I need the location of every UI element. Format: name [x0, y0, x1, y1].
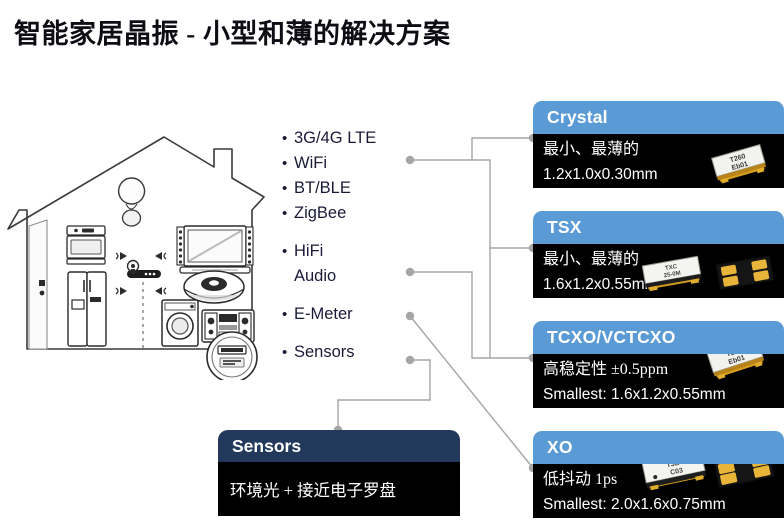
robot-vacuum-icon [184, 271, 244, 303]
page-title: 智能家居晶振 - 小型和薄的解决方案 [14, 12, 451, 51]
bullet-marker: • [282, 302, 294, 327]
panel-header: Crystal [533, 101, 784, 134]
list-item: • Sensors [282, 340, 412, 365]
smart-home-illustration [2, 132, 270, 380]
xo-package-top-image: T3B4 C03 [636, 464, 712, 492]
laptop-icon [177, 226, 253, 273]
oven-icon [67, 226, 105, 264]
sensors-panel-body: 环境光 + 接近电子罗盘 [218, 462, 460, 516]
list-item-label: HiFi Audio [294, 239, 336, 289]
bullet-marker: • [282, 340, 294, 365]
tcxo-package-image: T260 Eb01 [696, 354, 776, 384]
connector-audio-to-tsx [410, 272, 533, 358]
sensors-panel[interactable]: Sensors 环境光 + 接近电子罗盘 [218, 430, 460, 516]
bullet-marker: • [282, 201, 294, 226]
list-item-label: 3G/4G LTE [294, 126, 376, 151]
tsx-package-top-image: TXC 25-0M [636, 252, 708, 294]
xo-package-bottom-image [710, 464, 780, 492]
list-spacer [282, 226, 412, 239]
feature-bullet-list: • 3G/4G LTE • WiFi • BT/BLE • ZigBee • H… [282, 126, 412, 365]
list-item-label: BT/BLE [294, 176, 351, 201]
washing-machine-icon [162, 300, 198, 346]
connector-wifi-to-tsx [472, 160, 533, 248]
panel-header: XO [533, 431, 784, 464]
refrigerator-icon [68, 272, 106, 346]
panel-line2: Smallest: 1.6x1.2x0.55mm [543, 382, 784, 407]
list-item: • BT/BLE [282, 176, 412, 201]
list-item-label: E-Meter [294, 302, 353, 327]
electric-meter-icon [207, 332, 257, 380]
product-panel-tcxo[interactable]: TCXO/VCTCXO 高稳定性 ±0.5ppm Smallest: 1.6x1… [533, 321, 784, 408]
panel-line2: Smallest: 2.0x1.6x0.75mm [543, 492, 784, 517]
list-item-label: ZigBee [294, 201, 346, 226]
list-item: • HiFi Audio [282, 239, 412, 289]
list-item: • WiFi [282, 151, 412, 176]
list-item-label: WiFi [294, 151, 327, 176]
connector-sensors-to-box [338, 360, 430, 430]
list-item: • E-Meter [282, 302, 412, 327]
bullet-marker: • [282, 239, 294, 264]
connector-wifi-to-crystal [410, 138, 533, 160]
bullet-marker: • [282, 151, 294, 176]
door-icon [29, 220, 47, 349]
bullet-marker: • [282, 126, 294, 151]
product-panel-crystal[interactable]: Crystal 最小、最薄的 1.2x1.0x0.30mm T260 Eb01 [533, 101, 784, 188]
list-item-label: Sensors [294, 340, 355, 365]
crystal-package-image: T260 Eb01 [700, 139, 778, 187]
panel-header: TCXO/VCTCXO [533, 321, 784, 354]
product-panel-xo[interactable]: XO 低抖动 1ps Smallest: 2.0x1.6x0.75mm T3B4… [533, 431, 784, 518]
list-spacer [282, 289, 412, 302]
list-spacer [282, 327, 412, 340]
slide-canvas: 智能家居晶振 - 小型和薄的解决方案 [0, 0, 784, 524]
product-panel-tsx[interactable]: TSX 最小、最薄的 1.6x1.2x0.55mm TXC 25-0M [533, 211, 784, 298]
list-item: • ZigBee [282, 201, 412, 226]
tsx-package-bottom-image [712, 252, 778, 294]
bullet-marker: • [282, 176, 294, 201]
panel-body: 低抖动 1ps Smallest: 2.0x1.6x0.75mm T3B4 C0… [533, 464, 784, 518]
panel-body: 最小、最薄的 1.6x1.2x0.55mm TXC 25-0M [533, 244, 784, 298]
list-item: • 3G/4G LTE [282, 126, 412, 151]
panel-body: 最小、最薄的 1.2x1.0x0.30mm T260 Eb01 [533, 134, 784, 188]
panel-body: 高稳定性 ±0.5ppm Smallest: 1.6x1.2x0.55mm T2… [533, 354, 784, 408]
sensors-panel-header: Sensors [218, 430, 460, 462]
panel-header: TSX [533, 211, 784, 244]
